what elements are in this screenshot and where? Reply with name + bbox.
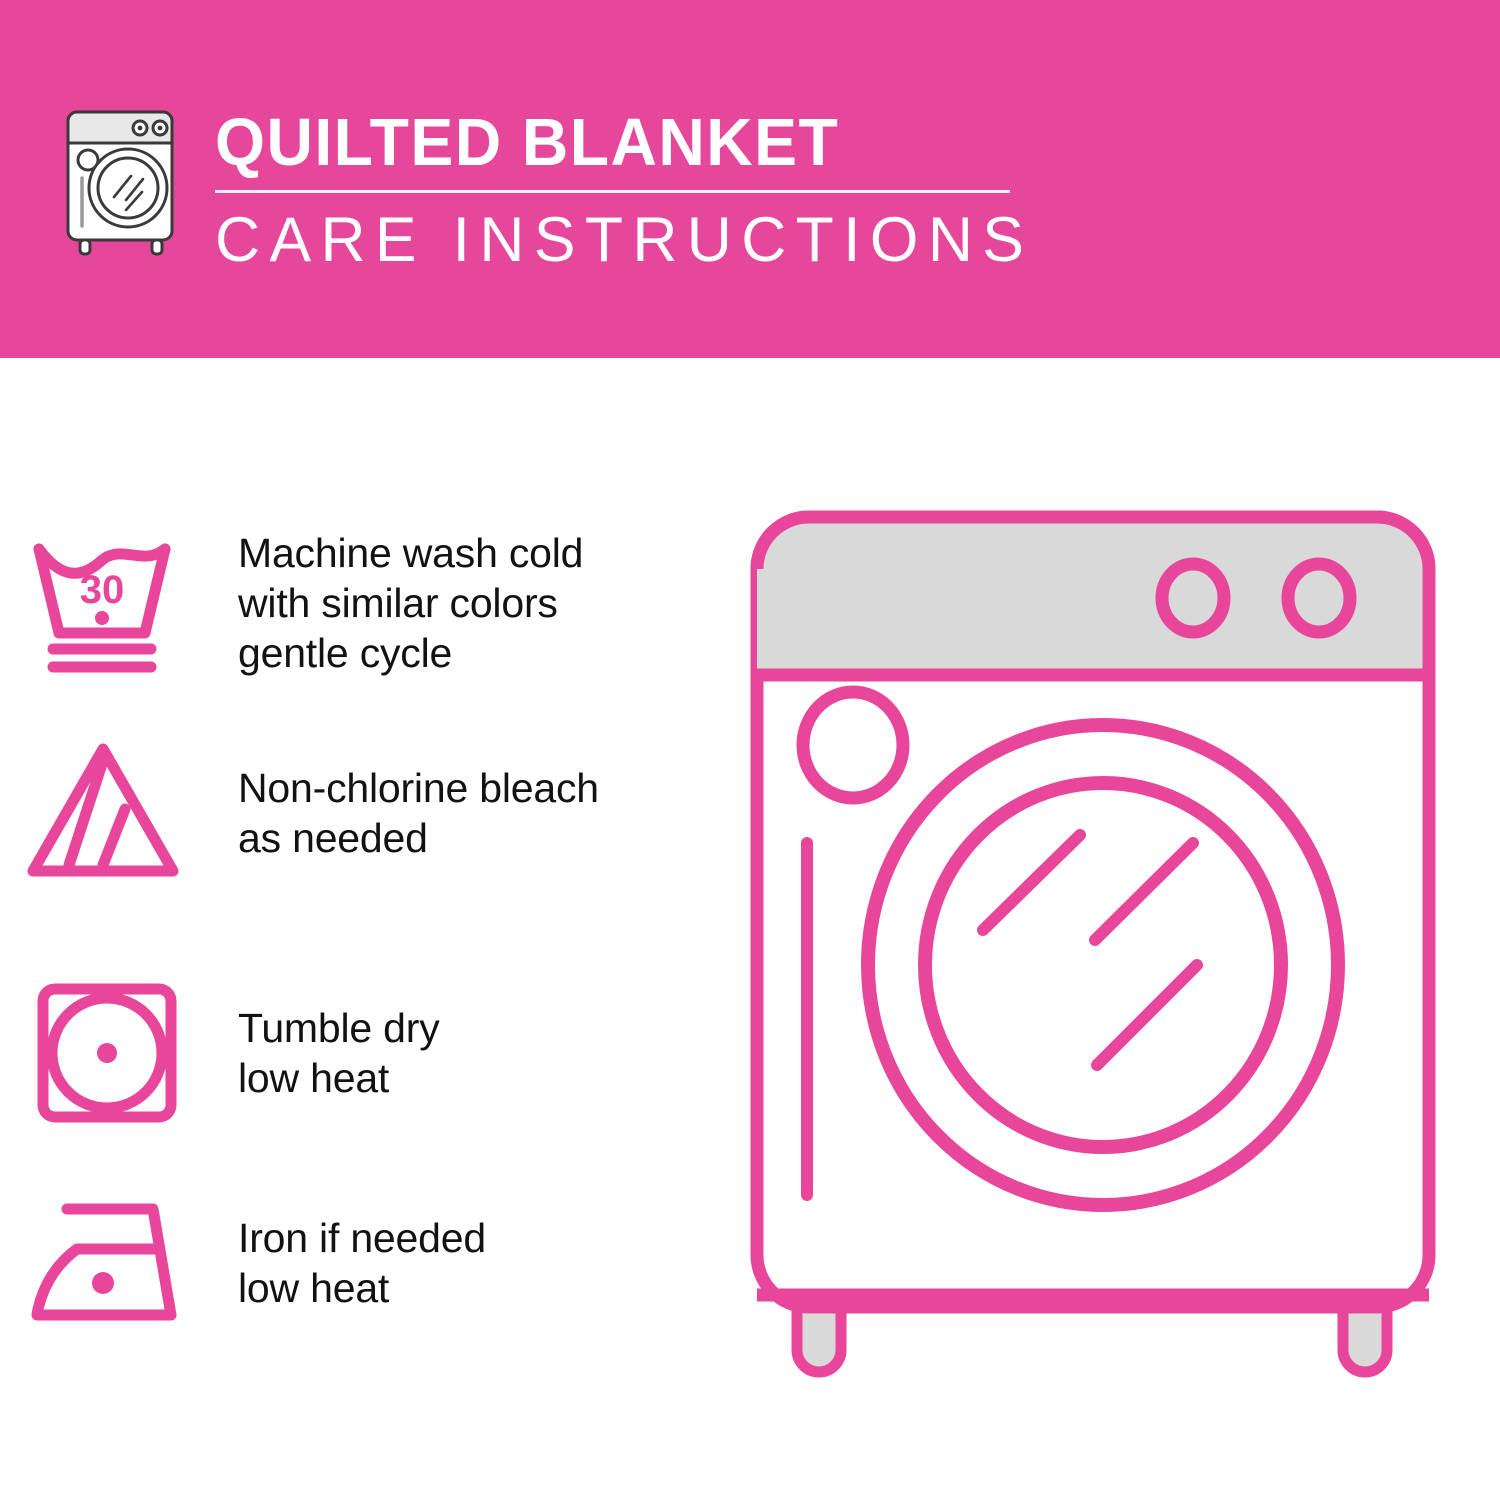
care-instructions-page: QUILTED BLANKET CARE INSTRUCTIONS [0, 0, 1500, 1500]
care-label-bleach: Non-chlorine bleach as needed [230, 763, 599, 863]
machine-wash-30-icon: 30 [0, 508, 230, 698]
care-label-iron: Iron if needed low heat [230, 1213, 486, 1313]
washer-door-inner-ring [925, 783, 1281, 1147]
front-load-washing-machine-illustration [735, 495, 1450, 1420]
care-row-machine-wash: 30 Machine wash cold with similar colors… [0, 508, 720, 698]
page-title: QUILTED BLANKET [215, 106, 983, 180]
wash-temperature-label: 30 [80, 568, 125, 612]
non-chlorine-bleach-icon [0, 718, 230, 908]
tumble-dry-low-icon [0, 958, 230, 1148]
header-title-block: QUILTED BLANKET CARE INSTRUCTIONS [215, 106, 1015, 275]
iron-low-heat-icon [0, 1168, 230, 1358]
page-header: QUILTED BLANKET CARE INSTRUCTIONS [0, 0, 1500, 358]
washer-knob-2 [1288, 564, 1350, 632]
care-row-tumble-dry: Tumble dry low heat [0, 958, 720, 1148]
care-label-tumble-dry: Tumble dry low heat [230, 1003, 440, 1103]
care-instruction-list: 30 Machine wash cold with similar colors… [0, 358, 720, 1500]
care-row-iron: Iron if needed low heat [0, 1168, 720, 1358]
care-row-bleach: Non-chlorine bleach as needed [0, 718, 720, 908]
washer-indicator-light [803, 692, 903, 798]
care-label-machine-wash: Machine wash cold with similar colors ge… [230, 528, 583, 678]
washing-machine-icon [62, 104, 192, 256]
page-subtitle: CARE INSTRUCTIONS [215, 205, 1007, 275]
washer-knob-1 [1162, 564, 1224, 632]
title-divider [215, 190, 1010, 193]
